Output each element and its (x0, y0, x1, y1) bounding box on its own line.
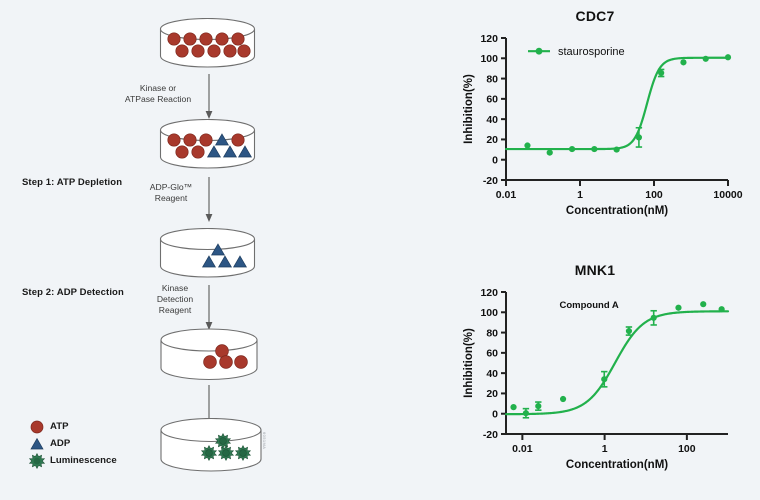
plate-atp-adp-mix (155, 119, 260, 171)
svg-text:120: 120 (480, 33, 498, 45)
svg-text:80: 80 (486, 73, 498, 85)
svg-text:100: 100 (678, 443, 696, 455)
svg-text:10000: 10000 (713, 189, 742, 201)
arrow-kinase-reaction (203, 74, 215, 125)
arrow-label-line: ADP-Glo™ (140, 182, 202, 193)
svg-text:1: 1 (602, 443, 608, 455)
svg-text:0.01: 0.01 (512, 443, 533, 455)
arrow-adp-glo-reagent (203, 177, 215, 228)
chart-mnk1: MNK1 -200204060801001200.011100Concentra… (440, 256, 750, 498)
svg-text:120: 120 (480, 287, 498, 299)
plate-adp-only (155, 228, 260, 280)
svg-text:Compound A: Compound A (560, 300, 619, 311)
svg-text:20: 20 (486, 388, 498, 400)
svg-text:0: 0 (492, 155, 498, 167)
plate-atp-regen (155, 328, 263, 382)
arrow-label-adp-glo-reagent: ADP-Glo™ Reagent (140, 182, 202, 204)
figure-watermark: 6051MA (262, 432, 267, 449)
svg-text:1: 1 (577, 189, 583, 201)
svg-text:Inhibition(%): Inhibition(%) (463, 328, 475, 398)
svg-text:80: 80 (486, 327, 498, 339)
svg-text:-20: -20 (483, 429, 498, 441)
legend-label-adp: ADP (50, 438, 70, 449)
arrow-label-line: Detection (148, 294, 202, 305)
svg-text:100: 100 (480, 307, 498, 319)
svg-text:Concentration(nM): Concentration(nM) (566, 205, 668, 217)
arrow-label-line: Kinase or (118, 83, 198, 94)
svg-text:100: 100 (480, 53, 498, 65)
step-1-label: Step 1: ATP Depletion (22, 177, 122, 188)
arrow-label-kinase-reaction: Kinase or ATPase Reaction (118, 83, 198, 105)
diagram-legend: ATP ADP Luminescence (28, 418, 117, 469)
svg-text:60: 60 (486, 94, 498, 106)
svg-text:40: 40 (486, 368, 498, 380)
svg-text:Concentration(nM): Concentration(nM) (566, 459, 668, 471)
adp-glo-workflow-diagram: Kinase or ATPase Reaction (0, 0, 440, 500)
arrow-label-line: ATPase Reaction (118, 94, 198, 105)
arrow-label-line: Kinase (148, 283, 202, 294)
chart-cdc7: CDC7 -200204060801001200.01110010000Conc… (440, 2, 750, 240)
atp-circle-icon (28, 419, 46, 435)
legend-label-luminescence: Luminescence (50, 455, 117, 466)
svg-text:Inhibition(%): Inhibition(%) (463, 74, 475, 144)
legend-item-atp: ATP (28, 418, 117, 435)
plate-luminescence (155, 418, 267, 474)
step-2-label: Step 2: ADP Detection (22, 287, 124, 298)
svg-text:-20: -20 (483, 175, 498, 187)
svg-text:40: 40 (486, 114, 498, 126)
legend-label-atp: ATP (50, 421, 68, 432)
svg-text:60: 60 (486, 348, 498, 360)
arrow-label-line: Reagent (148, 305, 202, 316)
figure-root: Kinase or ATPase Reaction (0, 0, 760, 500)
luminescence-burst-icon (28, 453, 46, 469)
svg-text:100: 100 (645, 189, 663, 201)
arrow-label-kinase-detection-reagent: Kinase Detection Reagent (148, 283, 202, 316)
legend-item-luminescence: Luminescence (28, 452, 117, 469)
svg-text:0: 0 (492, 409, 498, 421)
adp-triangle-icon (28, 436, 46, 452)
plate-atp-only (155, 18, 260, 70)
svg-text:0.01: 0.01 (496, 189, 517, 201)
svg-text:staurosporine: staurosporine (558, 46, 625, 58)
legend-item-adp: ADP (28, 435, 117, 452)
arrow-label-line: Reagent (140, 193, 202, 204)
svg-text:20: 20 (486, 134, 498, 146)
